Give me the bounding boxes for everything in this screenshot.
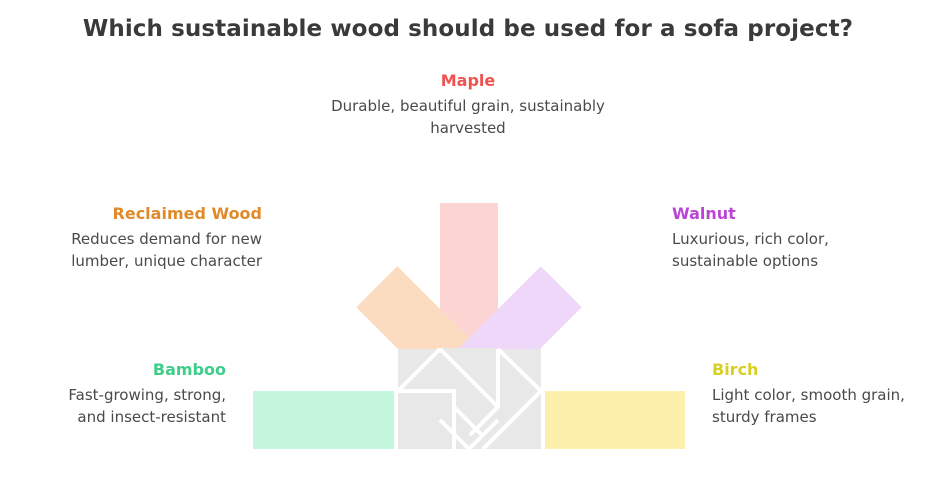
node-maple-description: Durable, beautiful grain, sustainably ha… <box>328 96 608 139</box>
node-walnut-description: Luxurious, rich color, sustainable optio… <box>672 229 902 272</box>
bar-bamboo <box>253 391 396 449</box>
node-birch[interactable]: Birch Light color, smooth grain, sturdy … <box>712 361 912 428</box>
node-maple-label: Maple <box>328 72 608 90</box>
infographic-canvas: Which sustainable wood should be used fo… <box>0 0 936 484</box>
node-walnut-label: Walnut <box>672 205 902 223</box>
node-maple[interactable]: Maple Durable, beautiful grain, sustaina… <box>328 72 608 139</box>
node-birch-description: Light color, smooth grain, sturdy frames <box>712 385 912 428</box>
diagram-hub <box>396 348 543 449</box>
node-reclaimed-wood-label: Reclaimed Wood <box>40 205 262 223</box>
node-reclaimed-wood[interactable]: Reclaimed Wood Reduces demand for new lu… <box>40 205 262 272</box>
node-bamboo[interactable]: Bamboo Fast-growing, strong, and insect-… <box>40 361 226 428</box>
bar-birch <box>543 391 685 449</box>
node-reclaimed-wood-description: Reduces demand for new lumber, unique ch… <box>40 229 262 272</box>
node-bamboo-label: Bamboo <box>40 361 226 379</box>
node-birch-label: Birch <box>712 361 912 379</box>
node-bamboo-description: Fast-growing, strong, and insect-resista… <box>40 385 226 428</box>
node-walnut[interactable]: Walnut Luxurious, rich color, sustainabl… <box>672 205 902 272</box>
